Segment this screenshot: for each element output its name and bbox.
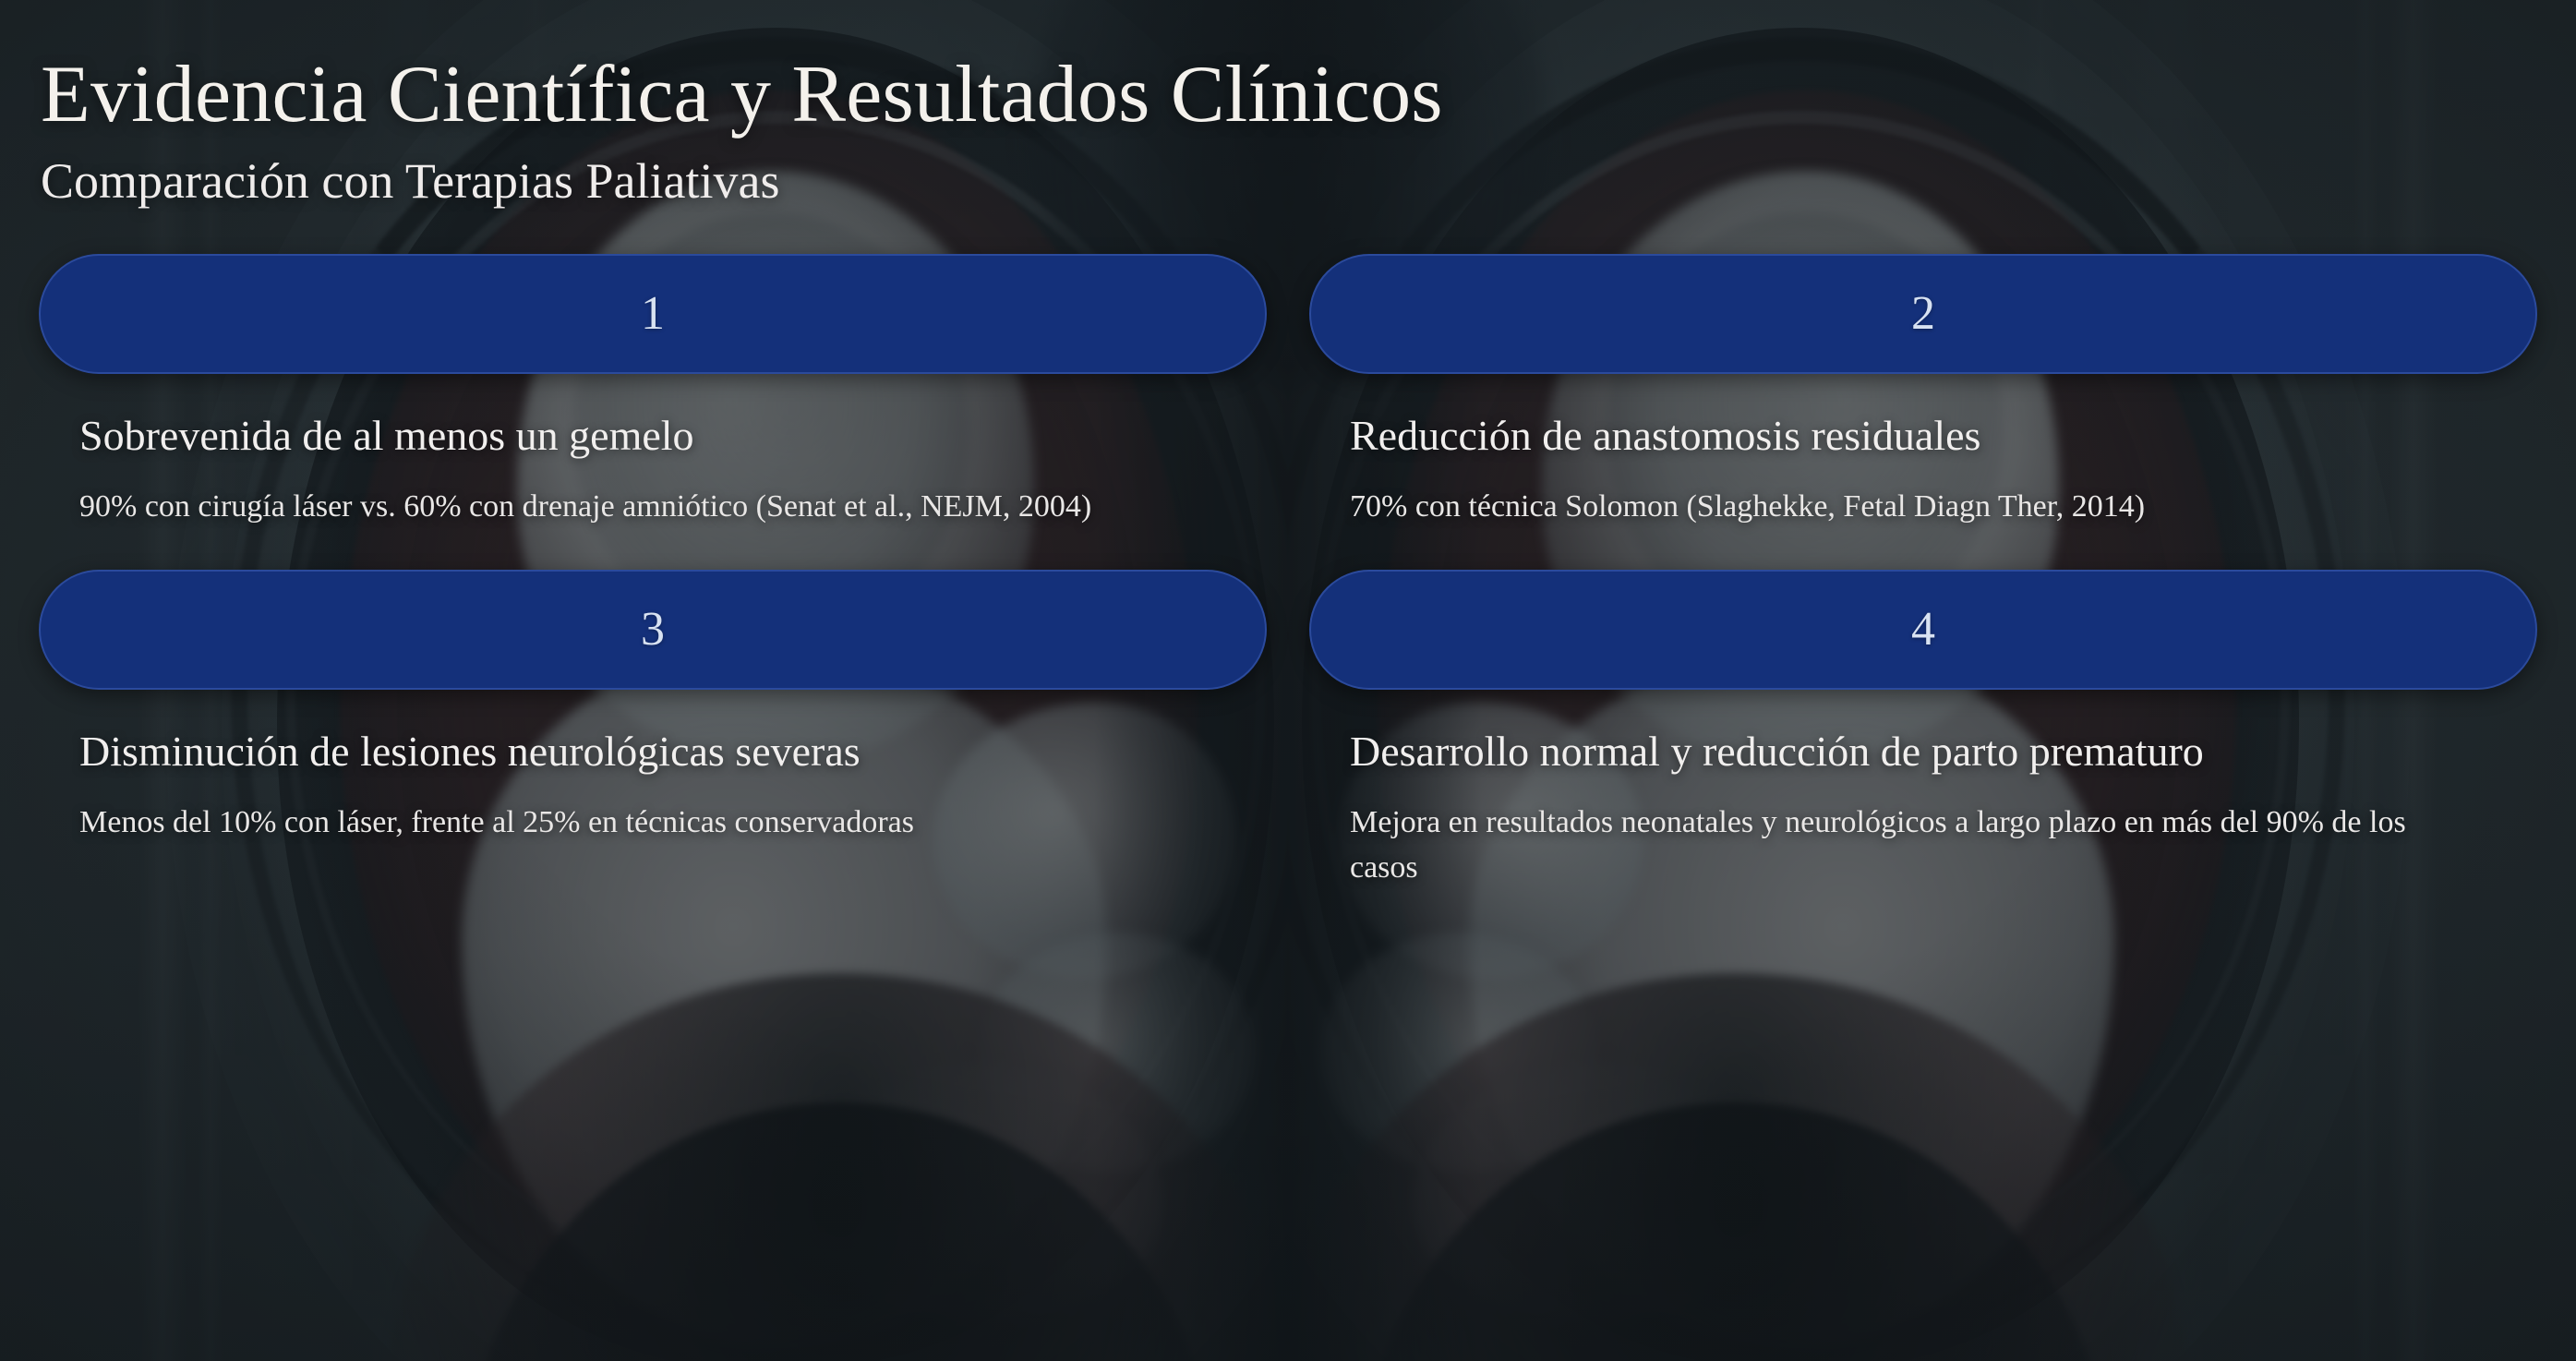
evidence-card: 2 Reducción de anastomosis residuales 70… [1309, 254, 2537, 530]
card-heading: Desarrollo normal y reducción de parto p… [1350, 727, 2528, 777]
card-number-label: 2 [1911, 290, 1935, 338]
card-heading: Sobrevenida de al menos un gemelo [79, 411, 1258, 461]
card-number-badge[interactable]: 1 [39, 254, 1267, 374]
card-body: Disminución de lesiones neurológicas sev… [39, 690, 1267, 846]
card-body: Sobrevenida de al menos un gemelo 90% co… [39, 374, 1267, 530]
card-number-label: 4 [1911, 606, 1935, 654]
card-description: Mejora en resultados neonatales y neurol… [1350, 801, 2467, 890]
evidence-card-grid: 1 Sobrevenida de al menos un gemelo 90% … [0, 254, 2576, 890]
card-heading: Disminución de lesiones neurológicas sev… [79, 727, 1258, 777]
card-body: Desarrollo normal y reducción de parto p… [1309, 690, 2537, 890]
card-number-badge[interactable]: 3 [39, 570, 1267, 690]
evidence-card: 1 Sobrevenida de al menos un gemelo 90% … [39, 254, 1267, 530]
card-heading: Reducción de anastomosis residuales [1350, 411, 2528, 461]
card-description: 90% con cirugía láser vs. 60% con drenaj… [79, 485, 1197, 529]
card-body: Reducción de anastomosis residuales 70% … [1309, 374, 2537, 530]
card-number-badge[interactable]: 2 [1309, 254, 2537, 374]
page-title: Evidencia Científica y Resultados Clínic… [41, 52, 2576, 138]
evidence-card: 3 Disminución de lesiones neurológicas s… [39, 570, 1267, 890]
card-number-label: 3 [641, 606, 665, 654]
page-subtitle: Comparación con Terapias Paliativas [41, 154, 2576, 209]
card-number-badge[interactable]: 4 [1309, 570, 2537, 690]
card-description: 70% con técnica Solomon (Slaghekke, Feta… [1350, 485, 2467, 529]
slide-content: Evidencia Científica y Resultados Clínic… [0, 0, 2576, 1361]
card-number-label: 1 [641, 290, 665, 338]
evidence-card: 4 Desarrollo normal y reducción de parto… [1309, 570, 2537, 890]
card-description: Menos del 10% con láser, frente al 25% e… [79, 801, 1197, 845]
slide-root: Evidencia Científica y Resultados Clínic… [0, 0, 2576, 1361]
